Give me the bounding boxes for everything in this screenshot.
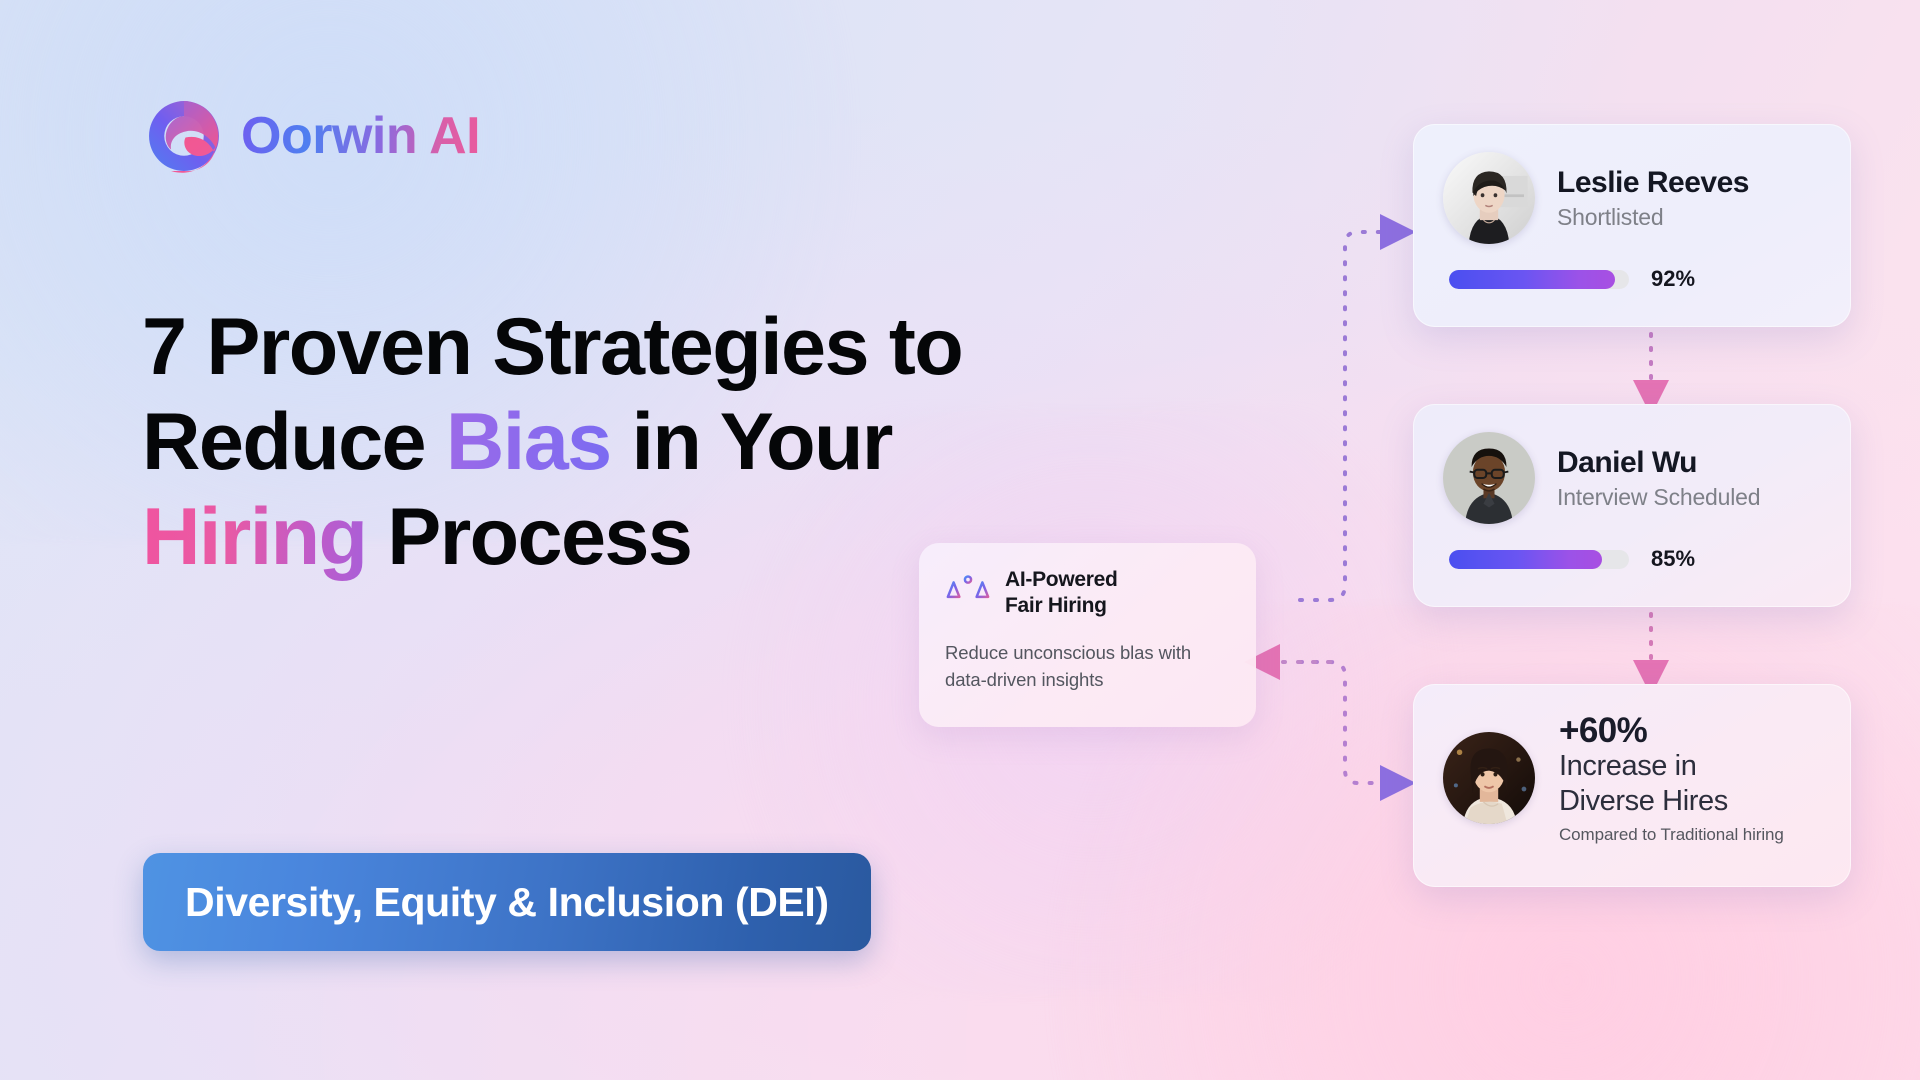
page-title: 7 Proven Strategies to Reduce Bias in Yo… [142,300,1202,584]
match-score-progress-fill [1449,270,1615,289]
headline-line-2: Reduce Bias in Your [142,395,1202,490]
stat-text-block: +60% Increase in Diverse Hires Compared … [1559,712,1784,845]
avatar-image [1443,432,1535,524]
stat-subtext: Compared to Traditional hiring [1559,825,1784,845]
ai-fair-hiring-card[interactable]: AI-Powered Fair Hiring Reduce unconsciou… [919,543,1256,727]
headline-line-1: 7 Proven Strategies to [142,300,1202,395]
headline-line-2-suffix: in Your [611,397,892,487]
oorwin-swirl-logo-icon [146,98,222,174]
headline-highlight-bias: Bias [446,397,611,487]
feature-desc-line-1: Reduce unconscious blas with [945,642,1191,663]
candidate-header: Daniel Wu Interview Scheduled [1443,432,1821,524]
match-score-label: 85% [1651,546,1695,572]
headline-line-3-suffix: Process [366,492,691,582]
dei-cta-button[interactable]: Diversity, Equity & Inclusion (DEI) [143,853,871,951]
feature-card-description: Reduce unconscious blas with data-driven… [945,640,1230,693]
candidate-progress-row: 92% [1449,266,1821,292]
candidate-name: Leslie Reeves [1557,166,1749,200]
brand-logo[interactable]: Oorwin AI [146,98,480,174]
candidate-progress-row: 85% [1449,546,1821,572]
candidate-identity: Daniel Wu Interview Scheduled [1557,446,1760,511]
feature-title-line-2: Fair Hiring [1005,594,1107,617]
candidate-identity: Leslie Reeves Shortlisted [1557,166,1749,231]
candidate-header: Leslie Reeves Shortlisted [1443,152,1821,244]
feature-card-header: AI-Powered Fair Hiring [945,567,1230,618]
balance-scales-icon [945,570,991,616]
match-score-progress-bar [1449,270,1629,289]
candidate-card-leslie[interactable]: Leslie Reeves Shortlisted 92% [1413,124,1851,327]
candidate-name: Daniel Wu [1557,446,1760,480]
stat-card-header: +60% Increase in Diverse Hires Compared … [1443,712,1821,845]
match-score-progress-bar [1449,550,1629,569]
candidate-status: Shortlisted [1557,204,1749,231]
stat-line-2: Diverse Hires [1559,784,1784,819]
dei-cta-label: Diversity, Equity & Inclusion (DEI) [185,879,829,926]
headline-highlight-hiring: Hiring [142,492,366,582]
match-score-progress-fill [1449,550,1602,569]
avatar-diverse-hire [1443,732,1535,824]
feature-title-line-1: AI-Powered [1005,568,1118,591]
stat-line-1: Increase in [1559,749,1784,784]
headline-line-2-prefix: Reduce [142,397,446,487]
feature-desc-line-2: data-driven insights [945,669,1103,690]
avatar-image [1443,152,1535,244]
stat-metric: +60% [1559,712,1784,749]
feature-card-title: AI-Powered Fair Hiring [1005,567,1118,618]
brand-name: Oorwin AI [241,106,480,166]
headline-line-1-text: 7 Proven Strategies to [142,302,962,392]
match-score-label: 92% [1651,266,1695,292]
candidate-status: Interview Scheduled [1557,484,1760,511]
avatar-daniel-wu [1443,432,1535,524]
avatar-image [1443,732,1535,824]
avatar-leslie-reeves [1443,152,1535,244]
diverse-hires-stat-card[interactable]: +60% Increase in Diverse Hires Compared … [1413,684,1851,887]
candidate-card-daniel[interactable]: Daniel Wu Interview Scheduled 85% [1413,404,1851,607]
